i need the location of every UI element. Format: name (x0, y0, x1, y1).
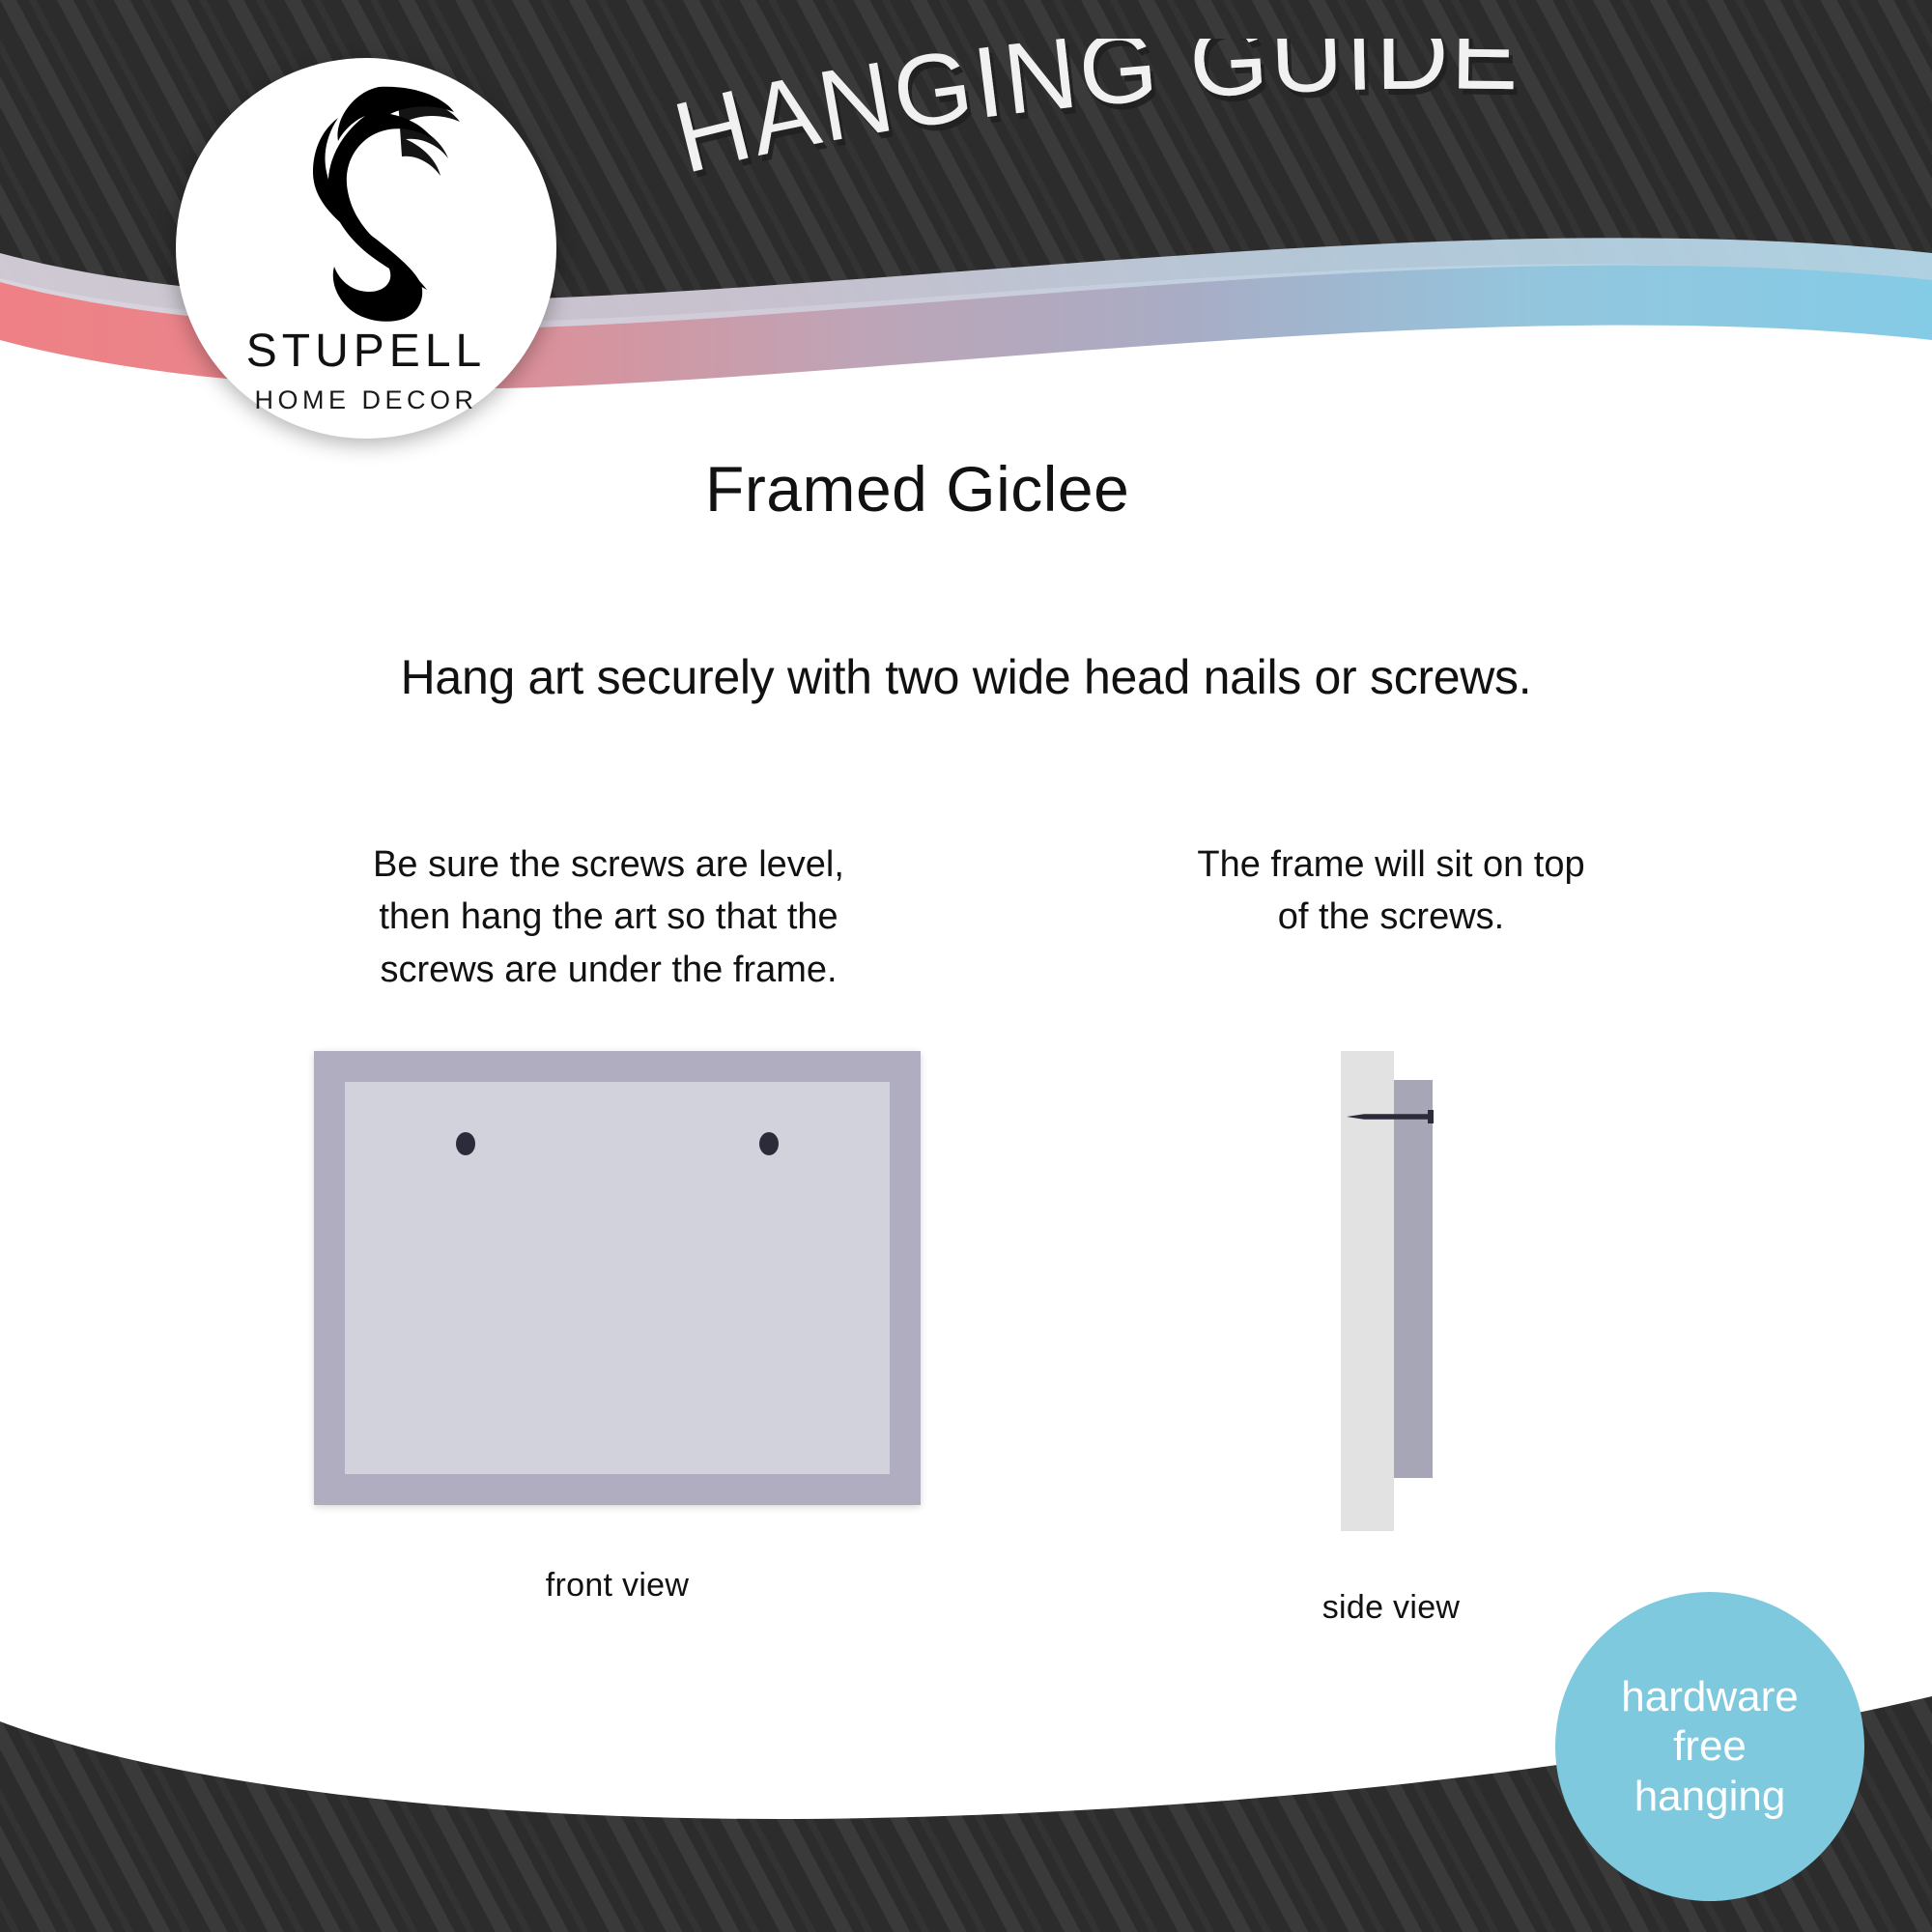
front-view-caption: Be sure the screws are level, then hang … (222, 838, 995, 996)
page-title-text: HANGING GUIDE (676, 39, 1520, 195)
badge-line-1: hardware (1621, 1672, 1798, 1721)
front-view-label: front view (546, 1567, 690, 1604)
logo-badge: STUPELL HOME DECOR (176, 58, 556, 439)
screw-dot-left-icon (456, 1132, 475, 1155)
product-type: Framed Giclee (705, 452, 1129, 526)
side-view-caption: The frame will sit on top of the screws. (1082, 838, 1700, 944)
front-caption-line-3: screws are under the frame. (222, 944, 995, 996)
side-view-frame-bar (1394, 1080, 1433, 1478)
front-view-frame-diagram (314, 1051, 921, 1505)
intro-instruction: Hang art securely with two wide head nai… (0, 649, 1932, 705)
page-title: HANGING GUIDE (676, 39, 1700, 241)
front-view-frame-inner (345, 1082, 890, 1474)
front-view-label-wrap: front view (314, 1567, 921, 1605)
side-caption-line-1: The frame will sit on top (1082, 838, 1700, 891)
badge-line-3: hanging (1634, 1772, 1786, 1821)
page-title-svg: HANGING GUIDE (676, 39, 1700, 241)
nail-icon (1347, 1108, 1435, 1125)
logo-name: STUPELL (176, 328, 556, 375)
side-caption-line-2: of the screws. (1082, 891, 1700, 943)
hanging-guide-page: STUPELL HOME DECOR HANGING GUIDE Framed … (0, 0, 1932, 1932)
front-caption-line-2: then hang the art so that the (222, 891, 995, 943)
side-view-label: side view (1322, 1589, 1461, 1626)
hardware-free-hanging-badge: hardware free hanging (1555, 1592, 1864, 1901)
front-caption-line-1: Be sure the screws are level, (222, 838, 995, 891)
screw-dot-right-icon (759, 1132, 779, 1155)
logo-wordmark: STUPELL HOME DECOR (176, 328, 556, 413)
stupell-swirl-logo-icon (255, 83, 477, 325)
side-view-label-wrap: side view (1188, 1589, 1594, 1627)
logo-tagline: HOME DECOR (176, 387, 556, 413)
badge-line-2: free (1673, 1721, 1747, 1771)
